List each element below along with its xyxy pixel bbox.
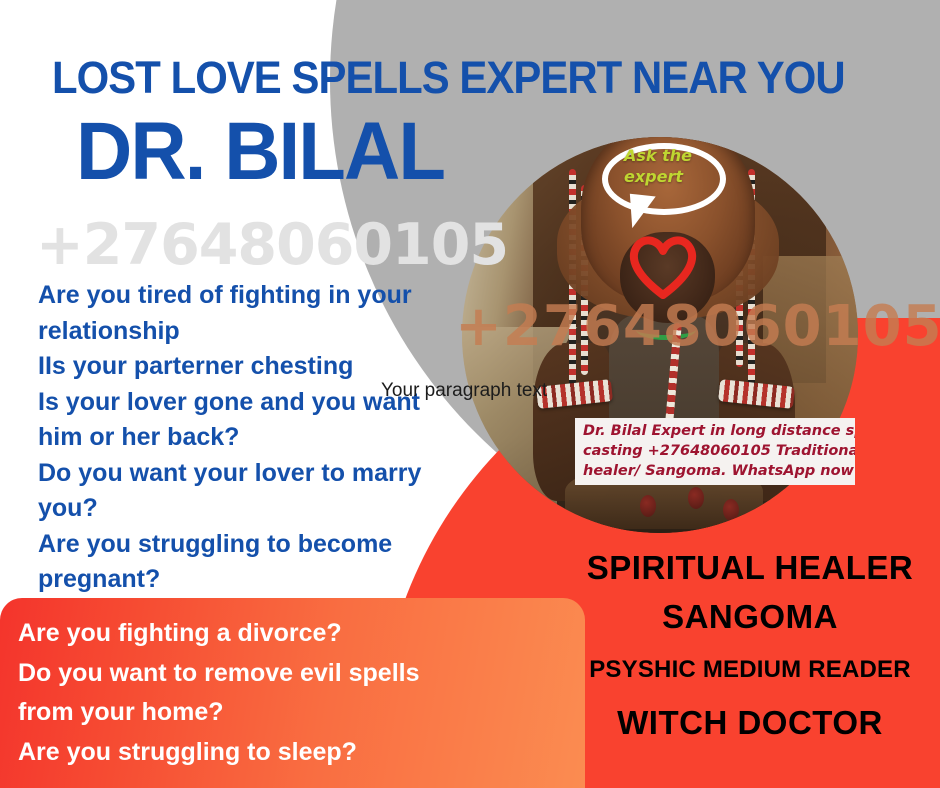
list-item: Are you struggling to become — [38, 527, 468, 563]
orange-question-panel: Are you fighting a divorce? Do you want … — [0, 598, 585, 788]
list-item: him or her back? — [38, 420, 468, 456]
heart-icon — [628, 235, 698, 299]
headline-phone-number: +27648060105 — [36, 212, 508, 278]
caption-line-1: Dr. Bilal Expert in long distance spells — [583, 421, 849, 441]
caption-line-3: healer/ Sangoma. WhatsApp now — [583, 461, 849, 481]
photo-caption-banner: Dr. Bilal Expert in long distance spells… — [575, 418, 855, 485]
list-item: relationship — [38, 314, 468, 350]
paragraph-placeholder-text: Your paragraph text — [381, 380, 547, 402]
list-item: Are you fighting a divorce? — [18, 614, 563, 654]
service-sangoma: SANGOMA — [560, 590, 940, 644]
service-psychic-medium-reader: PSYSHIC MEDIUM READER — [560, 644, 940, 696]
list-item: from your home? — [18, 693, 563, 733]
page-title: LOST LOVE SPELLS EXPERT NEAR YOU — [52, 52, 845, 104]
list-item: you? — [38, 491, 468, 527]
blue-question-list: Are you tired of fighting in your relati… — [38, 278, 468, 598]
services-list: SPIRITUAL HEALER SANGOMA PSYSHIC MEDIUM … — [560, 546, 940, 750]
list-item: Do you want to remove evil spells — [18, 654, 563, 694]
practitioner-name: DR. BILAL — [76, 104, 444, 200]
orange-question-list: Are you fighting a divorce? Do you want … — [18, 614, 563, 772]
speech-bubble-text: Ask the expert — [624, 145, 716, 187]
list-item: Are you tired of fighting in your — [38, 278, 468, 314]
service-witch-doctor: WITCH DOCTOR — [560, 696, 940, 750]
service-spiritual-healer: SPIRITUAL HEALER — [560, 546, 940, 590]
poster-canvas: Ask the expert +27648060105 Dr. Bilal Ex… — [0, 0, 940, 788]
list-item: Are you struggling to sleep? — [18, 733, 563, 773]
caption-line-2: casting +27648060105 Traditional — [583, 441, 849, 461]
photo-overlay-phone: +27648060105 — [455, 294, 940, 359]
photo-object-dot — [688, 487, 704, 509]
list-item: pregnant? — [38, 562, 468, 598]
list-item: Do you want your lover to marry — [38, 456, 468, 492]
